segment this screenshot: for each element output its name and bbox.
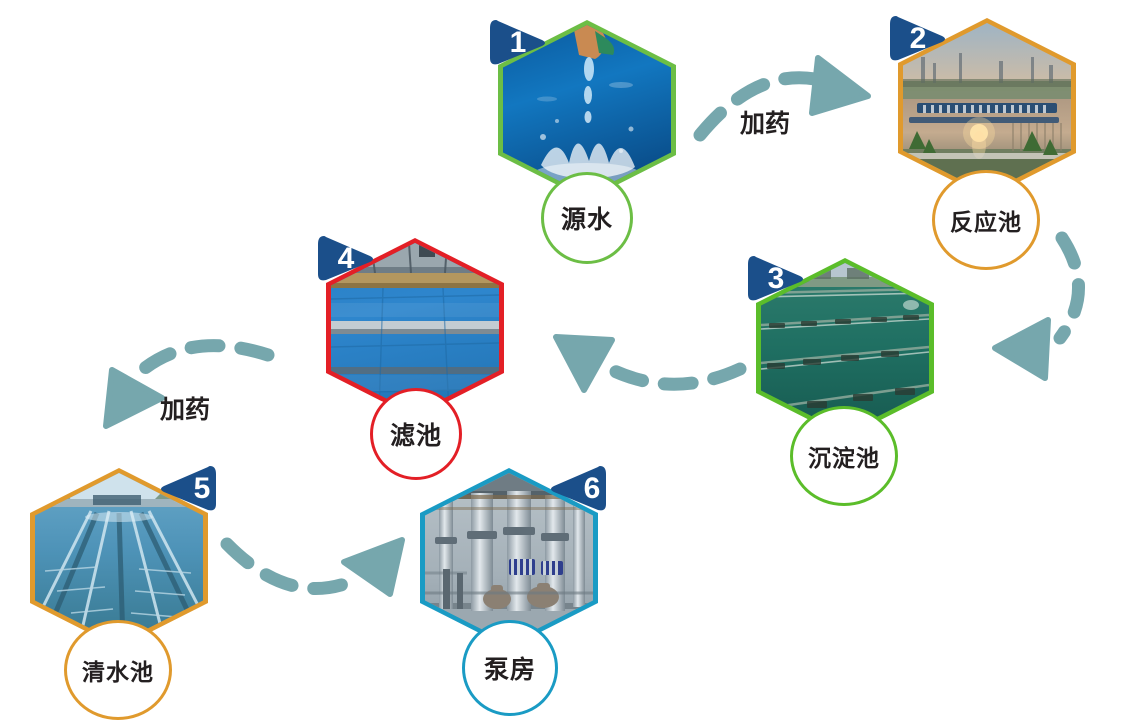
step-2-number-badge: 2 <box>888 12 948 66</box>
step-1-label: 源水 <box>561 200 613 236</box>
step-5-label: 清水池 <box>82 653 154 687</box>
step-3-label: 沉淀池 <box>808 439 880 473</box>
connector-label-dosing-1: 加药 <box>740 104 790 140</box>
step-3-label-circle[interactable]: 沉淀池 <box>790 406 898 506</box>
step-2-label: 反应池 <box>950 203 1022 237</box>
step-5-label-circle[interactable]: 清水池 <box>64 620 172 720</box>
step-1-label-circle[interactable]: 源水 <box>541 172 633 264</box>
connector-label-dosing-2: 加药 <box>160 390 210 426</box>
step-6-label-circle[interactable]: 泵房 <box>462 620 558 716</box>
process-flow-diagram: 加药 加药 <box>0 0 1130 714</box>
step-2-label-circle[interactable]: 反应池 <box>932 170 1040 270</box>
step-6-label: 泵房 <box>484 650 536 686</box>
step-3-number-badge: 3 <box>746 252 806 306</box>
step-5-number-badge: 5 <box>158 462 218 516</box>
step-1-number-badge: 1 <box>488 16 548 70</box>
step-4-number-badge: 4 <box>316 232 376 286</box>
connector-3-to-4 <box>556 337 740 390</box>
connector-5-to-6 <box>227 540 402 594</box>
step-4-label-circle[interactable]: 滤池 <box>370 388 462 480</box>
step-6-number-badge: 6 <box>548 462 608 516</box>
step-4-label: 滤池 <box>390 416 442 452</box>
